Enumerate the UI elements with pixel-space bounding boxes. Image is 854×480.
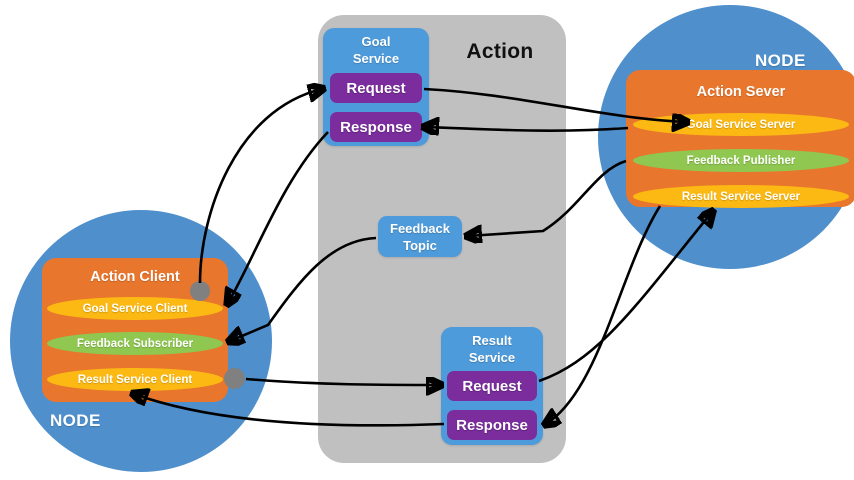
pill-result-service-server[interactable]: Result Service Server [633, 185, 849, 208]
diagram-canvas: Action NODE Action Sever Goal Service Se… [0, 0, 854, 480]
action-container-label: Action [445, 40, 555, 64]
pill-result-service-client[interactable]: Result Service Client [47, 368, 223, 391]
goal-service-response-label: Response [340, 119, 412, 136]
client-node-label: NODE [50, 411, 101, 431]
goal-service-title-line1: Goal [323, 33, 429, 50]
pill-label: Result Service Server [682, 191, 800, 203]
goal-service-request-label: Request [346, 80, 405, 97]
result-service-request[interactable]: Request [447, 371, 537, 401]
result-service-title-line1: Result [441, 332, 543, 349]
action-server-title: Action Sever [626, 84, 854, 100]
pill-feedback-subscriber[interactable]: Feedback Subscriber [47, 332, 223, 355]
result-service-title: Result Service [441, 327, 543, 366]
server-node-label: NODE [755, 51, 806, 71]
result-service-response[interactable]: Response [447, 410, 537, 440]
pill-label: Goal Service Client [83, 303, 188, 315]
result-service-request-label: Request [462, 378, 521, 395]
goal-service-response[interactable]: Response [330, 112, 422, 142]
pill-label: Goal Service Server [687, 119, 796, 131]
pill-label: Feedback Publisher [687, 155, 796, 167]
pill-feedback-publisher[interactable]: Feedback Publisher [633, 149, 849, 172]
goal-service-request[interactable]: Request [330, 73, 422, 103]
feedback-topic-title-line1: Feedback [390, 220, 450, 237]
feedback-topic-title-line2: Topic [390, 237, 450, 254]
goal-service-title-line2: Service [323, 50, 429, 67]
result-service-title-line2: Service [441, 349, 543, 366]
pill-label: Result Service Client [78, 374, 192, 386]
goal-service-title: Goal Service [323, 28, 429, 67]
connector-dot-result-client [224, 368, 245, 389]
connector-dot-goal-client [190, 281, 210, 301]
pill-goal-service-server[interactable]: Goal Service Server [633, 113, 849, 136]
result-service-response-label: Response [456, 417, 528, 434]
pill-label: Feedback Subscriber [77, 338, 193, 350]
feedback-topic-box[interactable]: Feedback Topic [378, 216, 462, 257]
